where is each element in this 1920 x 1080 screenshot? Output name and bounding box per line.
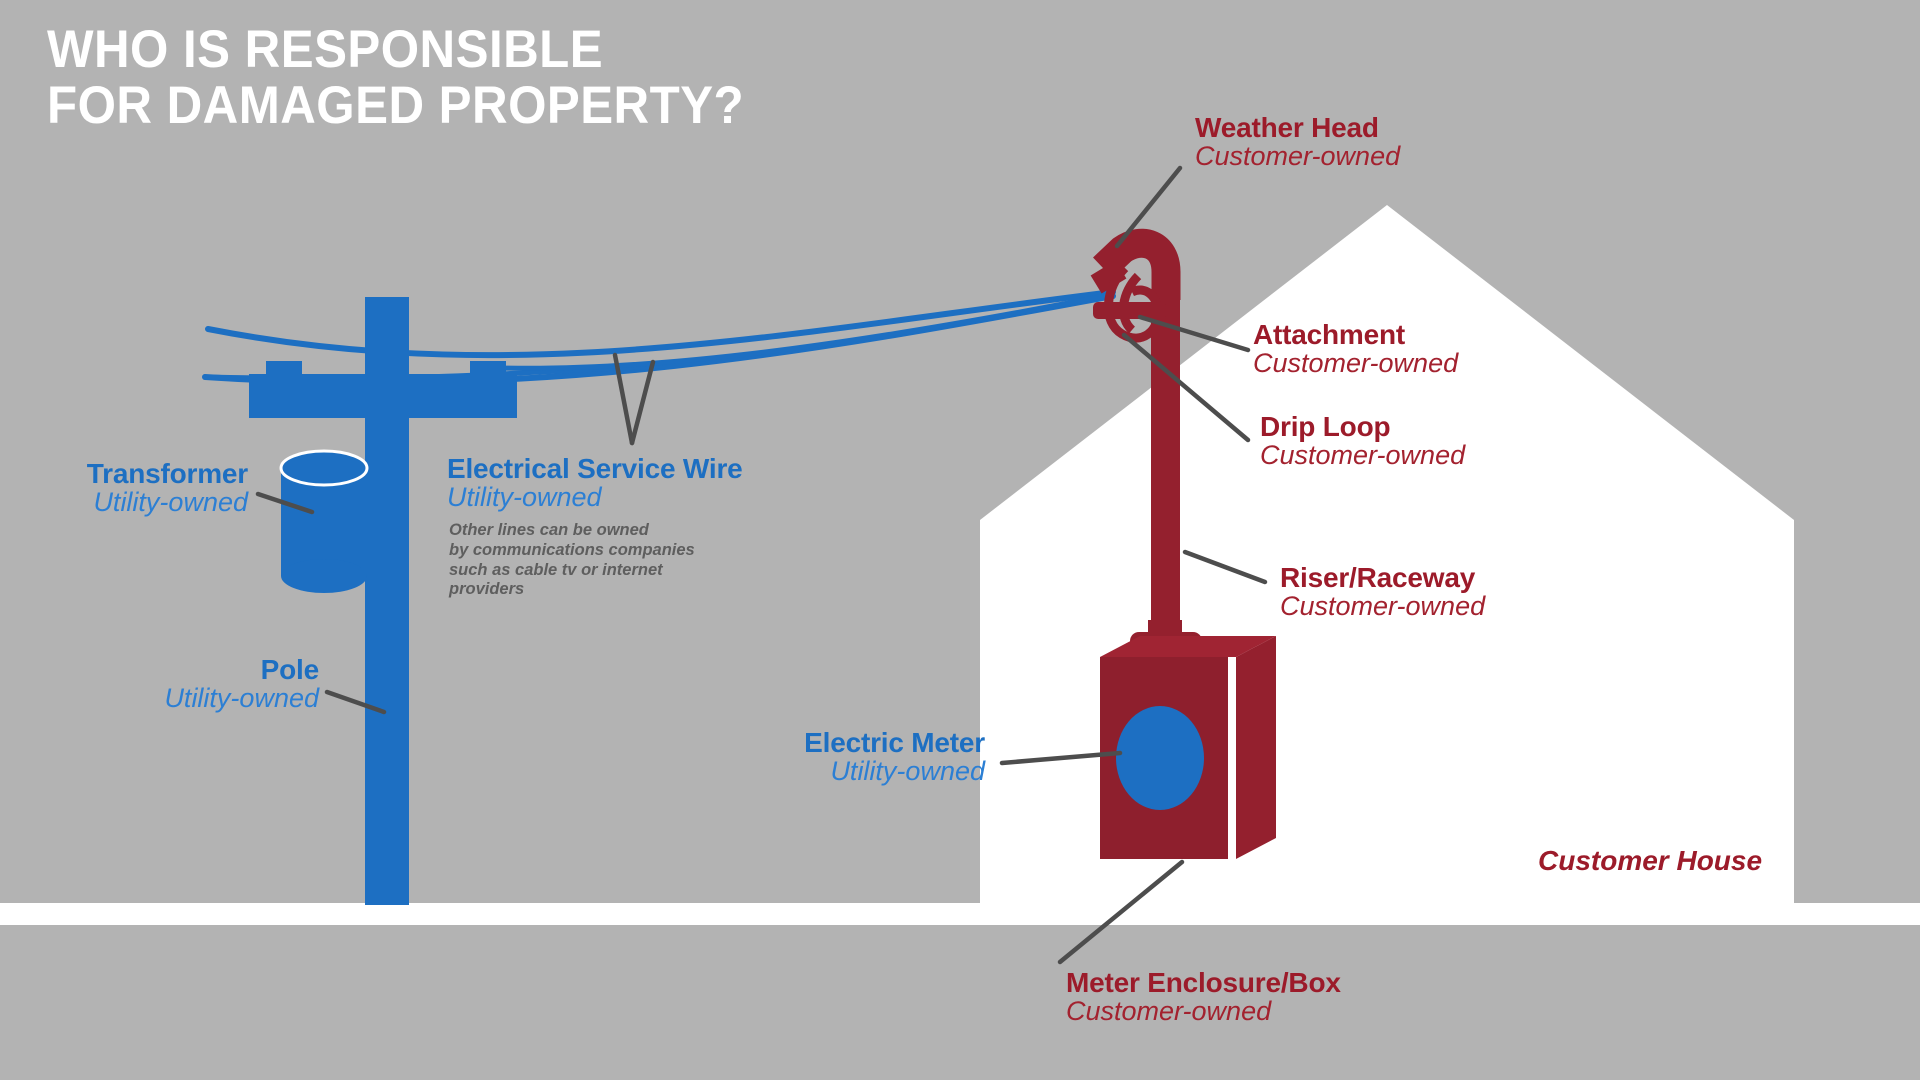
- label-electric-meter-title: Electric Meter: [804, 728, 985, 757]
- label-weather-head-subtitle: Customer-owned: [1195, 142, 1400, 170]
- label-weather-head-title: Weather Head: [1195, 113, 1400, 142]
- label-pole-subtitle: Utility-owned: [164, 684, 319, 712]
- label-riser-raceway-subtitle: Customer-owned: [1280, 592, 1485, 620]
- meter-dial: [1116, 706, 1204, 810]
- label-meter-enclosure-box-title: Meter Enclosure/Box: [1066, 968, 1341, 997]
- transformer-cylinder: [281, 451, 367, 593]
- service-wire-note-line-2: by communications companies: [449, 541, 739, 561]
- label-pole-title: Pole: [164, 655, 319, 684]
- label-drip-loop-title: Drip Loop: [1260, 412, 1465, 441]
- label-pole: Pole Utility-owned: [164, 655, 319, 712]
- service-wire-note: Other lines can be owned by communicatio…: [449, 521, 739, 600]
- label-riser-raceway: Riser/Raceway Customer-owned: [1280, 563, 1485, 620]
- label-attachment-title: Attachment: [1253, 320, 1458, 349]
- label-transformer: Transformer Utility-owned: [87, 459, 248, 516]
- label-weather-head: Weather Head Customer-owned: [1195, 113, 1400, 170]
- label-transformer-subtitle: Utility-owned: [87, 488, 248, 516]
- label-meter-enclosure-box-subtitle: Customer-owned: [1066, 997, 1341, 1025]
- label-meter-enclosure-box: Meter Enclosure/Box Customer-owned: [1066, 968, 1341, 1025]
- label-attachment: Attachment Customer-owned: [1253, 320, 1458, 377]
- service-wire-note-line-3: such as cable tv or internet: [449, 561, 739, 581]
- label-electric-meter-subtitle: Utility-owned: [804, 757, 985, 785]
- label-electrical-service-wire: Electrical Service Wire Utility-owned: [447, 454, 743, 511]
- label-riser-raceway-title: Riser/Raceway: [1280, 563, 1485, 592]
- page-title: WHO IS RESPONSIBLE FOR DAMAGED PROPERTY?: [47, 22, 744, 134]
- label-transformer-title: Transformer: [87, 459, 248, 488]
- label-customer-house: Customer House: [1538, 845, 1762, 877]
- riser-conduit: [1151, 290, 1180, 640]
- service-wire-note-line-4: providers: [449, 580, 739, 600]
- ground-stripe: [0, 903, 1920, 925]
- label-electrical-service-wire-subtitle: Utility-owned: [447, 483, 743, 511]
- label-electrical-service-wire-title: Electrical Service Wire: [447, 454, 743, 483]
- diagram-artwork: [0, 0, 1920, 1080]
- meter-box: [1100, 620, 1276, 859]
- service-wire-note-line-1: Other lines can be owned: [449, 521, 739, 541]
- infographic-canvas: WHO IS RESPONSIBLE FOR DAMAGED PROPERTY?…: [0, 0, 1920, 1080]
- label-attachment-subtitle: Customer-owned: [1253, 349, 1458, 377]
- label-drip-loop-subtitle: Customer-owned: [1260, 441, 1465, 469]
- title-line-2: FOR DAMAGED PROPERTY?: [47, 78, 744, 134]
- title-line-1: WHO IS RESPONSIBLE: [47, 22, 744, 78]
- label-drip-loop: Drip Loop Customer-owned: [1260, 412, 1465, 469]
- label-electric-meter: Electric Meter Utility-owned: [804, 728, 985, 785]
- attachment-bracket: [1093, 302, 1166, 319]
